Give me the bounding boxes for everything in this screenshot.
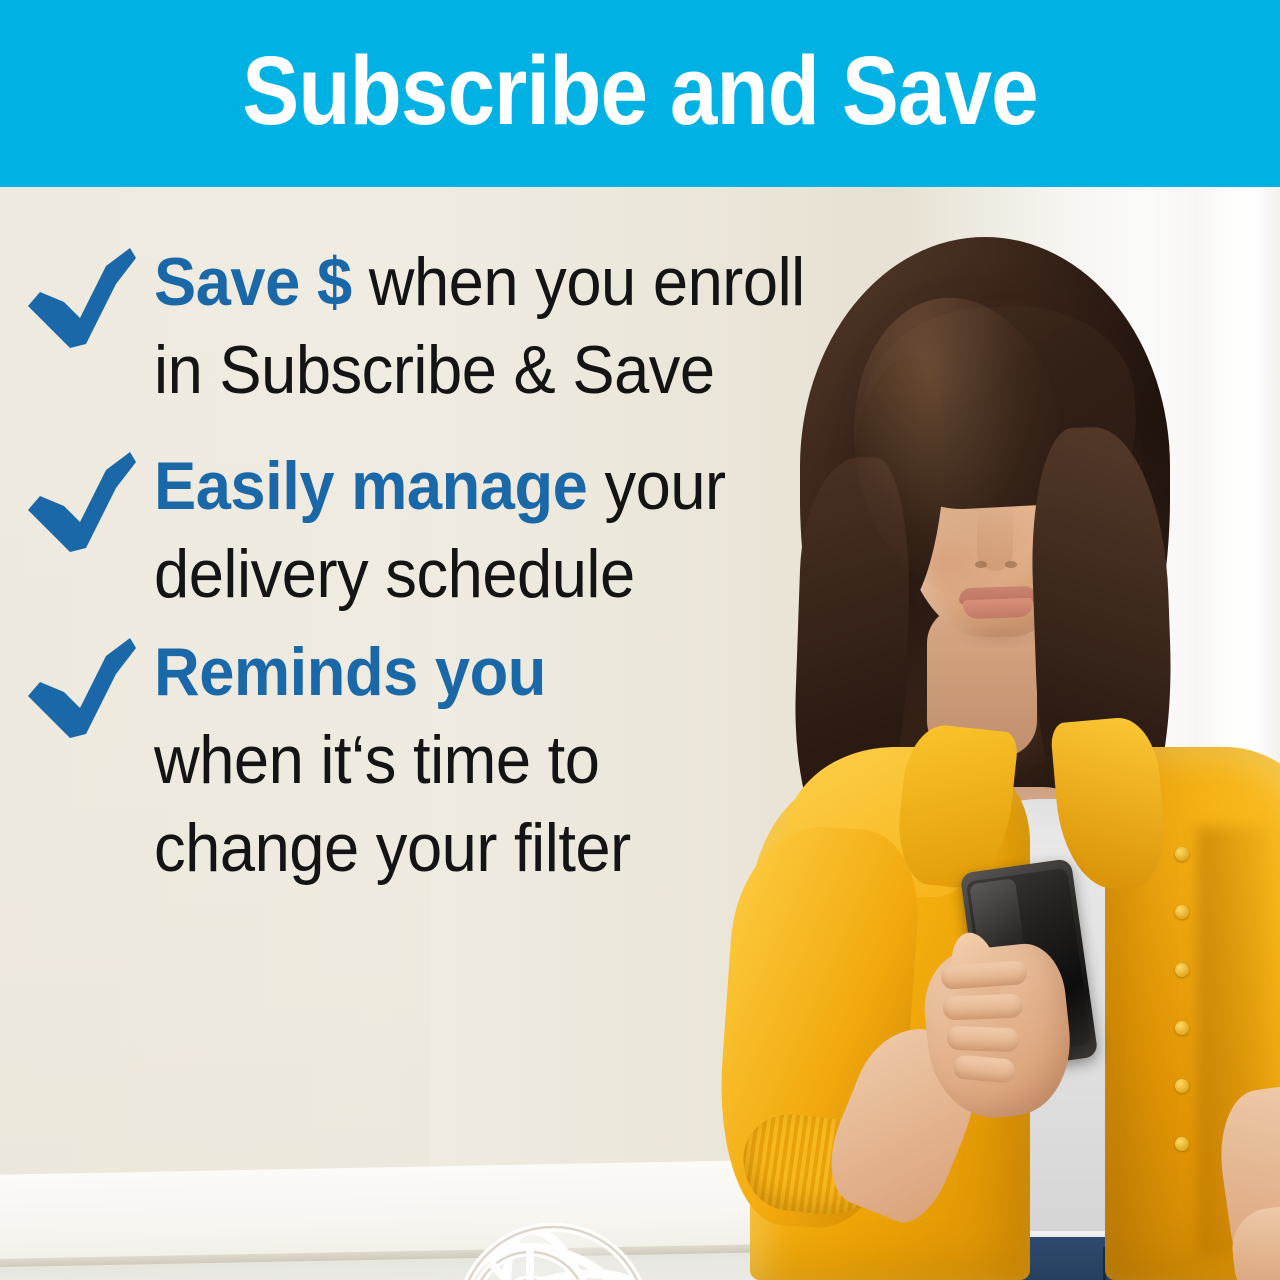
lower-lip: [963, 598, 1034, 619]
benefit-highlight-3: Reminds you: [154, 634, 546, 710]
lattice-sphere-icon: [452, 1220, 654, 1280]
cardigan-button: [1175, 847, 1189, 861]
checkmark-icon: [24, 634, 142, 744]
cardigan-button: [1175, 1079, 1189, 1093]
benefit-item-2: Easily manage your delivery schedule: [24, 442, 769, 618]
decorative-lattice-sphere: [452, 1220, 654, 1280]
benefit-text-1: Save $ when you enroll in Subscribe & Sa…: [154, 238, 805, 414]
benefit-item-1: Save $ when you enroll in Subscribe & Sa…: [24, 238, 854, 414]
benefit-rest-3: when it‘s time to change your filter: [154, 722, 631, 886]
benefit-highlight-2: Easily manage: [154, 448, 587, 524]
checkmark-icon: [24, 448, 142, 558]
cardigan-button: [1175, 905, 1189, 919]
benefit-item-3: Reminds you when it‘s time to change you…: [24, 628, 667, 892]
benefit-highlight-1: Save $: [154, 244, 352, 320]
benefit-text-2: Easily manage your delivery schedule: [154, 442, 726, 618]
cardigan-button: [1175, 1021, 1189, 1035]
finger: [943, 994, 1024, 1021]
page-title: Subscribe and Save: [77, 0, 1203, 187]
chin-shadow: [953, 623, 1045, 649]
benefit-text-3: Reminds you when it‘s time to change you…: [154, 628, 631, 892]
header-banner: Subscribe and Save: [0, 0, 1280, 187]
checkmark-icon: [24, 244, 142, 354]
cardigan-button: [1175, 1137, 1189, 1151]
cardigan-button: [1175, 963, 1189, 977]
finger: [947, 1026, 1020, 1052]
promo-canvas: Subscribe and Save Save $ when you enrol…: [0, 0, 1280, 1280]
